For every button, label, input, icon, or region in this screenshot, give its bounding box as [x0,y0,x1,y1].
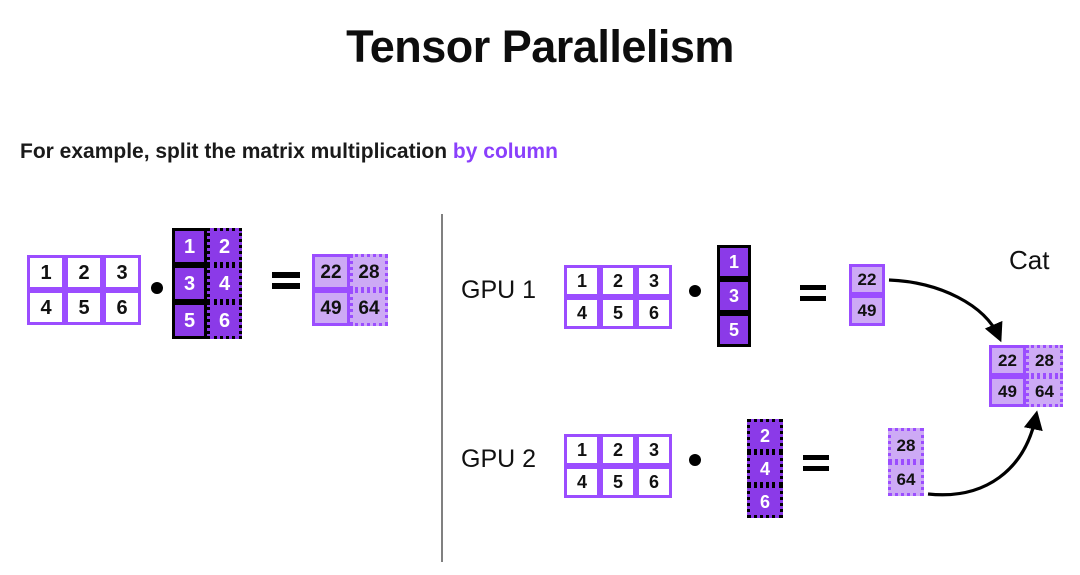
matrix-cell: 22 [312,254,350,290]
matrix-cell: 64 [888,462,924,496]
matrix-cell: 6 [636,297,672,329]
matrix-cell: 6 [103,290,141,325]
gpu1-label: GPU 1 [461,276,536,305]
gpu1-result: 22 49 [849,264,885,326]
matrix-cell: 49 [849,295,885,326]
left-matrix-a: 1 2 3 4 5 6 [27,255,141,325]
matrix-row: 49 64 [989,376,1063,407]
matrix-cell: 2 [600,434,636,466]
matrix-row: 3 4 [172,265,242,302]
gpu1-equals-operator [800,285,826,301]
matrix-cell: 5 [717,313,751,347]
panel-divider [441,214,443,562]
matrix-cell: 4 [564,466,600,498]
gpu1-dot-operator [689,285,701,297]
matrix-row: 1 2 3 [564,434,672,466]
subtitle-highlight: by column [453,140,558,163]
matrix-cell: 5 [600,297,636,329]
slide-canvas: Tensor Parallelism For example, split th… [0,0,1080,575]
left-result-matrix: 22 28 49 64 [312,254,388,326]
matrix-cell: 5 [65,290,103,325]
matrix-cell: 3 [172,265,207,302]
matrix-cell: 1 [717,245,751,279]
concat-label: Cat [1009,245,1049,276]
matrix-cell: 49 [989,376,1026,407]
gpu2-label: GPU 2 [461,445,536,474]
arrow-gpu2-to-concat [928,416,1036,495]
arrow-gpu1-to-concat [889,280,999,337]
matrix-cell: 4 [564,297,600,329]
matrix-row: 5 6 [172,302,242,339]
matrix-cell: 3 [636,265,672,297]
left-equals-operator [272,272,300,289]
matrix-row: 1 2 [172,228,242,265]
subtitle: For example, split the matrix multiplica… [20,140,558,164]
gpu1-vector-b: 1 3 5 [717,245,751,347]
matrix-cell: 5 [600,466,636,498]
matrix-cell: 2 [600,265,636,297]
gpu1-matrix-a: 1 2 3 4 5 6 [564,265,672,329]
matrix-cell: 1 [564,265,600,297]
gpu2-vector-b: 2 4 6 [747,419,783,518]
left-dot-operator [151,282,163,294]
matrix-cell: 3 [717,279,751,313]
gpu2-matrix-a: 1 2 3 4 5 6 [564,434,672,498]
concat-matrix: 22 28 49 64 [989,345,1063,407]
matrix-cell: 49 [312,290,350,326]
matrix-row: 22 28 [312,254,388,290]
matrix-cell: 2 [207,228,242,265]
matrix-row: 4 5 6 [564,297,672,329]
matrix-cell: 1 [172,228,207,265]
matrix-cell: 64 [1026,376,1063,407]
matrix-cell: 2 [65,255,103,290]
matrix-cell: 4 [207,265,242,302]
matrix-row: 1 2 3 [564,265,672,297]
gpu2-equals-operator [803,455,829,471]
left-matrix-b: 1 2 3 4 5 6 [172,228,242,339]
matrix-cell: 1 [564,434,600,466]
matrix-cell: 3 [636,434,672,466]
matrix-cell: 22 [989,345,1026,376]
matrix-cell: 28 [350,254,388,290]
matrix-cell: 64 [350,290,388,326]
matrix-cell: 2 [747,419,783,452]
matrix-cell: 6 [636,466,672,498]
matrix-cell: 3 [103,255,141,290]
matrix-cell: 6 [207,302,242,339]
matrix-row: 49 64 [312,290,388,326]
matrix-row: 4 5 6 [564,466,672,498]
matrix-cell: 28 [888,428,924,462]
matrix-row: 4 5 6 [27,290,141,325]
gpu2-result: 28 64 [888,428,924,496]
matrix-cell: 28 [1026,345,1063,376]
page-title: Tensor Parallelism [0,22,1080,72]
matrix-cell: 4 [27,290,65,325]
matrix-row: 22 28 [989,345,1063,376]
gpu2-dot-operator [689,454,701,466]
matrix-row: 1 2 3 [27,255,141,290]
subtitle-prefix: For example, split the matrix multiplica… [20,140,453,163]
matrix-cell: 22 [849,264,885,295]
matrix-cell: 5 [172,302,207,339]
matrix-cell: 6 [747,485,783,518]
matrix-cell: 1 [27,255,65,290]
matrix-cell: 4 [747,452,783,485]
